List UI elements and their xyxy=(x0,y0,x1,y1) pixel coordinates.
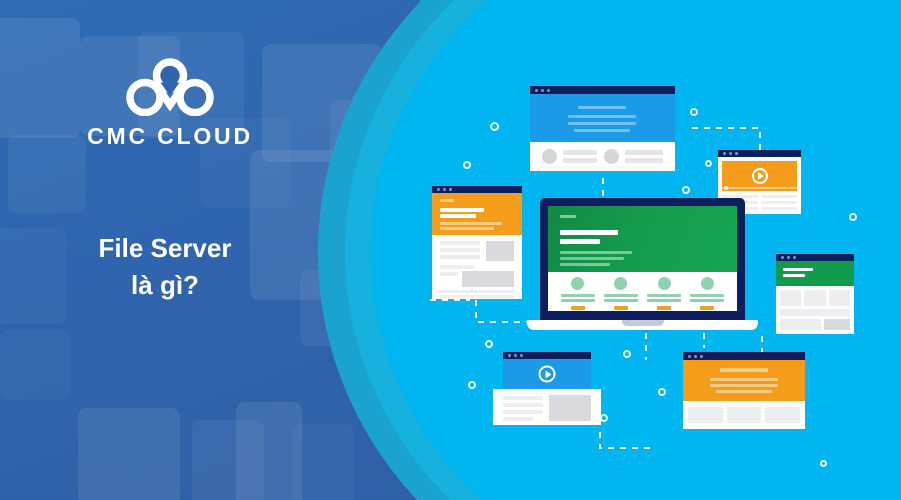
window-dot-icon xyxy=(547,89,550,92)
grid-cell xyxy=(824,319,850,330)
decorative-dot xyxy=(682,186,690,194)
window-dot-icon xyxy=(781,256,784,259)
placeholder-line xyxy=(761,195,797,198)
window-dot-icon xyxy=(541,89,544,92)
window-dot-icon xyxy=(437,188,440,191)
decorative-dot xyxy=(463,161,471,169)
window-bottom-orange[interactable] xyxy=(683,352,805,429)
placeholder-line xyxy=(440,265,474,269)
grid-cell xyxy=(780,319,821,330)
window-left-orange[interactable] xyxy=(432,186,522,299)
window-header-green xyxy=(776,261,854,286)
placeholder-line xyxy=(625,150,663,155)
grid-cell xyxy=(780,290,801,306)
card-placeholder xyxy=(727,407,762,423)
window-header-orange xyxy=(683,360,805,401)
placeholder-line xyxy=(783,268,813,271)
placeholder-line xyxy=(440,241,480,245)
decorative-dot xyxy=(485,340,493,348)
feature-cta[interactable] xyxy=(657,306,671,310)
feature-item xyxy=(559,277,597,311)
feature-icon xyxy=(571,277,584,290)
feature-cta[interactable] xyxy=(614,306,628,310)
banner-canvas: CMC CLOUD File Server là gì? xyxy=(0,0,901,500)
window-content xyxy=(776,286,854,334)
placeholder-line xyxy=(561,299,595,302)
placeholder-line xyxy=(440,199,454,202)
placeholder-line xyxy=(783,274,805,277)
placeholder-line xyxy=(574,129,630,132)
window-right-green[interactable] xyxy=(776,254,854,334)
window-dot-icon xyxy=(508,354,511,357)
laptop-trackpad-notch xyxy=(622,320,664,326)
decorative-dot xyxy=(600,414,608,422)
window-top-blue[interactable] xyxy=(530,86,675,171)
window-dot-icon xyxy=(443,188,446,191)
decorative-dot xyxy=(468,381,476,389)
placeholder-line xyxy=(560,215,576,218)
decorative-dot xyxy=(849,213,857,221)
video-progress-handle[interactable] xyxy=(724,186,728,190)
placeholder-line xyxy=(647,294,681,297)
window-bottom-blue-video[interactable] xyxy=(503,352,591,425)
placeholder-line xyxy=(780,309,850,316)
feature-item xyxy=(645,277,683,311)
placeholder-line xyxy=(560,239,600,244)
placeholder-line xyxy=(563,150,597,155)
window-header-blue xyxy=(530,94,675,142)
placeholder-line xyxy=(563,158,597,163)
card-placeholder xyxy=(765,407,800,423)
window-dot-icon xyxy=(514,354,517,357)
placeholder-line xyxy=(440,222,502,225)
window-dot-icon xyxy=(449,188,452,191)
placeholder-line xyxy=(761,201,797,204)
window-titlebar xyxy=(503,352,591,359)
placeholder-line xyxy=(440,227,494,230)
video-play-icon[interactable] xyxy=(539,366,556,383)
grid-cell xyxy=(829,290,850,306)
placeholder-line xyxy=(503,410,543,414)
video-player-orange[interactable] xyxy=(722,161,797,191)
window-dot-icon xyxy=(729,152,732,155)
decorative-dot xyxy=(658,388,666,396)
feature-item xyxy=(602,277,640,311)
placeholder-line xyxy=(568,122,636,125)
column xyxy=(761,195,797,210)
video-player-blue[interactable] xyxy=(503,359,591,389)
placeholder-line xyxy=(647,299,681,302)
placeholder-line xyxy=(690,299,724,302)
window-dot-icon xyxy=(793,256,796,259)
placeholder-line xyxy=(560,263,610,266)
window-content xyxy=(432,235,522,299)
feature-cta[interactable] xyxy=(571,306,585,310)
video-progress-track[interactable] xyxy=(722,187,797,189)
placeholder-line xyxy=(503,417,533,421)
feature-icon xyxy=(658,277,671,290)
decorative-dot xyxy=(820,460,827,467)
placeholder-line xyxy=(716,390,772,393)
placeholder-line xyxy=(561,294,595,297)
placeholder-line xyxy=(440,272,458,276)
screen-feature-row xyxy=(548,272,737,311)
window-dot-icon xyxy=(787,256,790,259)
window-dot-icon xyxy=(535,89,538,92)
placeholder-line xyxy=(440,295,514,298)
placeholder-line xyxy=(503,403,543,407)
placeholder-line xyxy=(604,294,638,297)
avatar xyxy=(542,149,557,164)
window-titlebar xyxy=(683,352,805,360)
window-dot-icon xyxy=(520,354,523,357)
window-dot-icon xyxy=(700,355,703,358)
placeholder-line xyxy=(720,368,768,372)
image-placeholder xyxy=(462,271,514,287)
window-content xyxy=(493,389,601,425)
placeholder-line xyxy=(440,208,484,212)
placeholder-line xyxy=(503,396,543,400)
decorative-dot xyxy=(705,160,712,167)
laptop-center-green[interactable] xyxy=(540,198,745,320)
grid-cell xyxy=(804,290,825,306)
cloud-devices-network-illustration xyxy=(0,0,901,500)
decorative-dot xyxy=(690,108,698,116)
window-dot-icon xyxy=(723,152,726,155)
window-titlebar xyxy=(432,186,522,193)
window-content xyxy=(683,401,805,429)
placeholder-line xyxy=(690,294,724,297)
window-titlebar xyxy=(776,254,854,261)
image-placeholder xyxy=(486,241,514,261)
window-header-orange xyxy=(432,193,522,235)
placeholder-line xyxy=(440,214,476,218)
window-dot-icon xyxy=(688,355,691,358)
placeholder-line xyxy=(440,248,480,252)
video-play-icon[interactable] xyxy=(752,168,768,184)
placeholder-line xyxy=(578,106,626,109)
feature-icon xyxy=(614,277,627,290)
placeholder-line xyxy=(560,257,624,260)
window-titlebar xyxy=(530,86,675,94)
placeholder-line xyxy=(604,299,638,302)
avatar xyxy=(604,149,619,164)
placeholder-line xyxy=(710,378,778,381)
placeholder-line xyxy=(560,251,632,254)
placeholder-line xyxy=(440,290,514,293)
decorative-dot xyxy=(623,350,631,358)
feature-cta[interactable] xyxy=(700,306,714,310)
grid-layout-icon xyxy=(780,290,850,306)
placeholder-line xyxy=(568,115,636,118)
placeholder-line xyxy=(625,158,663,163)
window-titlebar xyxy=(718,150,801,157)
placeholder-line xyxy=(560,230,618,235)
placeholder-line xyxy=(440,255,480,259)
laptop-screen xyxy=(548,206,737,311)
image-placeholder xyxy=(549,395,591,421)
grid-row xyxy=(780,319,850,330)
feature-icon xyxy=(701,277,714,290)
screen-header-green xyxy=(548,206,737,272)
decorative-dot xyxy=(490,122,499,131)
placeholder-line xyxy=(761,207,797,210)
window-dot-icon xyxy=(735,152,738,155)
window-dot-icon xyxy=(694,355,697,358)
window-content xyxy=(530,142,675,171)
card-placeholder xyxy=(688,407,723,423)
feature-item xyxy=(688,277,726,311)
placeholder-line xyxy=(710,384,778,387)
